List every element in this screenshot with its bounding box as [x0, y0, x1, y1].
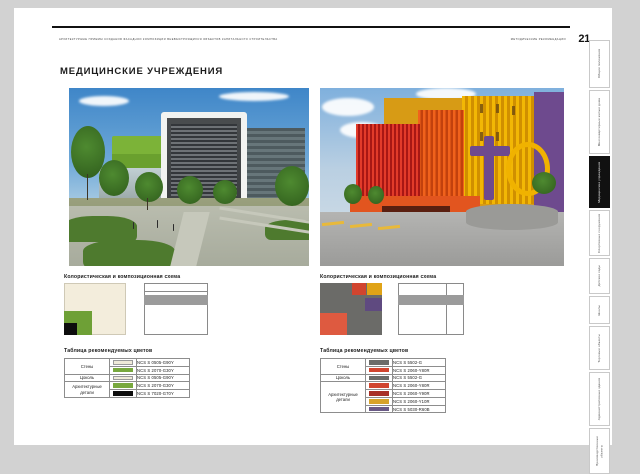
table-row: Архитектурные деталиNCS S 2060-Y80R [321, 382, 446, 390]
ncs-code: NCS S 0505-G90Y [137, 374, 190, 382]
scheme-right-purple [365, 298, 382, 311]
row-label: Архитектурные детали [65, 382, 110, 398]
ncs-code: NCS S 5502-G [393, 374, 446, 382]
section-tab-label: Медицинские учреждения [597, 162, 602, 203]
ncs-code: NCS S 0505-G90Y [137, 359, 190, 367]
section-tab-9[interactable]: Производственные объекты [589, 428, 610, 474]
cloud [219, 92, 289, 101]
table-row: Архитектурные деталиNCS S 2070-G30Y [65, 382, 190, 390]
section-tabs: Общие положенияМногоквартирные жилые дом… [586, 38, 612, 448]
tree [135, 172, 163, 202]
color-swatch [113, 376, 133, 381]
color-swatch-cell [366, 359, 393, 367]
scheme-right-bigred [320, 313, 347, 335]
orange-fins [418, 110, 464, 206]
section-tab-8[interactable]: Административные здания [589, 372, 610, 426]
color-table-left-body: СтеныNCS S 0505-G90YNCS S 2070-G30YЦокол… [65, 359, 190, 398]
section-tab-7[interactable]: Торговые объекты [589, 326, 610, 370]
planter [466, 204, 558, 230]
scheme-label-left: Колористическая и композиционная схема [64, 274, 180, 280]
section-tab-label: Спортивные сооружения [597, 214, 602, 253]
section-tab-label: Производственные объекты [595, 429, 604, 473]
table-row: ЦокольNCS S 0505-G90Y [65, 374, 190, 382]
row-label: Цоколь [321, 374, 366, 382]
ncs-code: NCS S 2060-Y90R [393, 390, 446, 398]
color-swatch [369, 383, 389, 388]
scheme-right-amber [367, 283, 382, 295]
color-swatch [369, 368, 389, 373]
scheme-right-composition [398, 283, 464, 335]
color-swatch-cell [110, 374, 137, 382]
section-tab-2[interactable]: Многоквартирные жилые дома [589, 90, 610, 154]
section-tab-3[interactable]: Медицинские учреждения [589, 156, 610, 208]
table-row: СтеныNCS S 5502-G [321, 359, 446, 367]
tree [177, 176, 203, 204]
row-label: Стены [321, 359, 366, 375]
cloud [79, 96, 129, 106]
table-label-right: Таблица рекомендуемых цветов [320, 348, 408, 354]
row-label: Стены [65, 359, 110, 375]
table-label-left: Таблица рекомендуемых цветов [64, 348, 152, 354]
window [512, 106, 515, 115]
color-swatch [113, 383, 133, 388]
section-tab-5[interactable]: Детские сады [589, 258, 610, 294]
header-right-text: МЕТОДИЧЕСКИЕ РЕКОМЕНДАЦИИ [511, 38, 566, 41]
color-swatch-cell [110, 366, 137, 374]
window [496, 132, 499, 141]
scheme-left-band [144, 295, 208, 305]
palm [532, 172, 556, 194]
color-swatch [369, 376, 389, 381]
section-tab-label: Торговые объекты [597, 334, 602, 363]
tree-trunk [147, 198, 148, 210]
document-page: АРХИТЕКТУРНЫЕ ПРИЕМЫ СОЗДАНИЯ ФАСАДНОЙ К… [14, 8, 612, 445]
color-swatch [113, 360, 133, 365]
color-swatch-cell [366, 390, 393, 398]
scheme-right-line [446, 305, 447, 335]
window [480, 132, 483, 141]
section-tab-6[interactable]: Школы [589, 296, 610, 324]
section-tab-label: Многоквартирные жилые дома [597, 98, 602, 146]
palm [344, 184, 362, 204]
ncs-code: NCS S 5502-G [393, 359, 446, 367]
ncs-code: NCS S 2060-Y80R [393, 366, 446, 374]
color-swatch-cell [110, 382, 137, 390]
cloud [322, 98, 374, 116]
color-swatch-cell [366, 366, 393, 374]
photo-hospital-colorful [320, 88, 564, 266]
ncs-code: NCS S 2060-Y10R [393, 397, 446, 405]
section-tab-4[interactable]: Спортивные сооружения [589, 210, 610, 256]
section-tab-label: Детские сады [597, 265, 602, 286]
color-swatch [113, 368, 133, 373]
ncs-code: NCS S 2070-G30Y [137, 382, 190, 390]
section-tab-label: Административные здания [597, 378, 602, 420]
photo-hospital-green [69, 88, 309, 266]
scheme-right-band [398, 295, 464, 305]
scheme-left-black [64, 323, 77, 335]
palm [368, 186, 384, 204]
color-table-right-body: СтеныNCS S 5502-GNCS S 2060-Y80RЦокольNC… [321, 359, 446, 413]
section-tab-1[interactable]: Общие положения [589, 40, 610, 88]
sculpture-purple-bar [470, 146, 510, 156]
tree [275, 166, 309, 206]
tree [99, 160, 129, 196]
color-swatch-cell [366, 382, 393, 390]
color-swatch-cell [366, 405, 393, 413]
section-tab-label: Общие положения [597, 49, 602, 78]
ncs-code: NCS S 7020-G70Y [137, 390, 190, 398]
header-left-text: АРХИТЕКТУРНЫЕ ПРИЕМЫ СОЗДАНИЯ ФАСАДНОЙ К… [59, 38, 389, 41]
header-rule [52, 26, 570, 28]
color-table-right: СтеныNCS S 5502-GNCS S 2060-Y80RЦокольNC… [320, 358, 446, 413]
lawn [69, 216, 137, 242]
ncs-code: NCS S 5030-R60B [393, 405, 446, 413]
color-swatch [369, 399, 389, 404]
tree-trunk [87, 174, 88, 200]
color-swatch-cell [110, 359, 137, 367]
color-swatch [369, 391, 389, 396]
color-swatch-cell [366, 374, 393, 382]
lawn [83, 240, 175, 266]
color-table-left: СтеныNCS S 0505-G90YNCS S 2070-G30YЦокол… [64, 358, 190, 398]
scheme-left-line [144, 291, 208, 292]
scheme-right-line [446, 283, 447, 295]
section-tab-label: Школы [597, 305, 602, 316]
scheme-label-right: Колористическая и композиционная схема [320, 274, 436, 280]
color-swatch [369, 407, 389, 412]
ncs-code: NCS S 2060-Y80R [393, 382, 446, 390]
table-row: СтеныNCS S 0505-G90Y [65, 359, 190, 367]
color-swatch-cell [366, 397, 393, 405]
color-swatch-cell [110, 390, 137, 398]
tree [213, 180, 237, 204]
window [480, 104, 483, 113]
color-swatch [113, 391, 133, 396]
window [496, 104, 499, 113]
ncs-code: NCS S 2070-G30Y [137, 366, 190, 374]
color-swatch [369, 360, 389, 365]
row-label: Цоколь [65, 374, 110, 382]
page-title: МЕДИЦИНСКИЕ УЧРЕЖДЕНИЯ [60, 66, 223, 77]
row-label: Архитектурные детали [321, 382, 366, 413]
scheme-right-red [352, 283, 366, 295]
table-row: ЦокольNCS S 5502-G [321, 374, 446, 382]
